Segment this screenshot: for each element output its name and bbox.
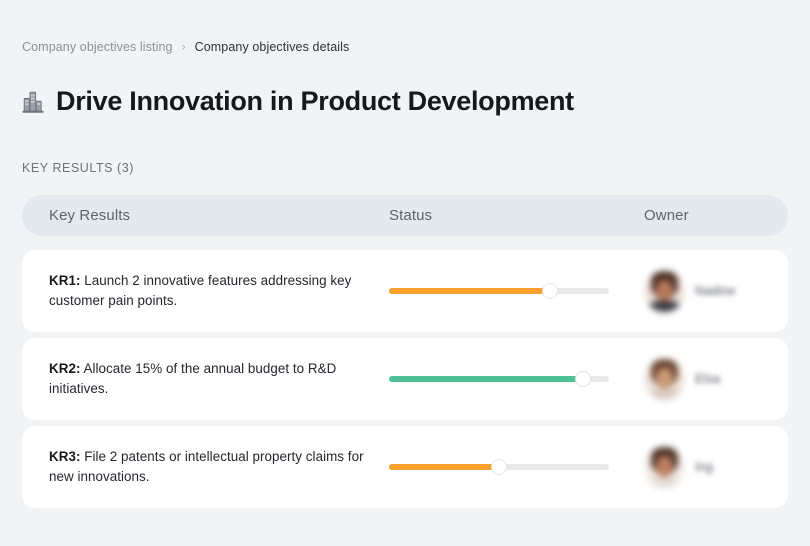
building-icon — [21, 89, 45, 115]
breadcrumb: Company objectives listing › Company obj… — [22, 38, 349, 56]
owner[interactable]: Elsa — [644, 359, 788, 400]
chevron-right-icon: › — [182, 38, 186, 56]
breadcrumb-link-listing[interactable]: Company objectives listing — [22, 38, 173, 56]
progress-bar[interactable] — [389, 284, 609, 298]
cell-owner: Nadine — [644, 271, 788, 312]
key-result-text: KR2: Allocate 15% of the annual budget t… — [49, 359, 379, 399]
objective-details-page: Company objectives listing › Company obj… — [0, 0, 810, 546]
owner-name: Nadine — [695, 284, 736, 298]
table-row[interactable]: KR2: Allocate 15% of the annual budget t… — [22, 338, 788, 420]
cell-key-result: KR3: File 2 patents or intellectual prop… — [22, 447, 389, 487]
owner-name: Ing — [695, 460, 713, 474]
cell-status — [389, 284, 644, 298]
table-row[interactable]: KR3: File 2 patents or intellectual prop… — [22, 426, 788, 508]
page-title: Drive Innovation in Product Development — [56, 84, 574, 118]
progress-bar[interactable] — [389, 460, 609, 474]
table-header-row: Key Results Status Owner — [22, 195, 788, 236]
key-result-prefix: KR2: — [49, 361, 80, 376]
avatar — [644, 359, 685, 400]
progress-bar[interactable] — [389, 372, 609, 386]
table-body: KR1: Launch 2 innovative features addres… — [22, 250, 788, 508]
column-header-status: Status — [389, 207, 644, 224]
owner[interactable]: Nadine — [644, 271, 788, 312]
key-result-text: KR3: File 2 patents or intellectual prop… — [49, 447, 379, 487]
avatar — [644, 447, 685, 488]
key-result-text: KR1: Launch 2 innovative features addres… — [49, 271, 379, 311]
owner[interactable]: Ing — [644, 447, 788, 488]
key-result-description: Allocate 15% of the annual budget to R&D… — [49, 361, 336, 396]
cell-owner: Elsa — [644, 359, 788, 400]
key-result-prefix: KR3: — [49, 449, 80, 464]
column-header-owner: Owner — [644, 207, 788, 224]
key-result-description: Launch 2 innovative features addressing … — [49, 273, 351, 308]
breadcrumb-current-details: Company objectives details — [195, 38, 350, 56]
progress-handle[interactable] — [576, 372, 590, 386]
progress-fill — [389, 376, 583, 382]
column-header-key-results: Key Results — [22, 207, 389, 224]
key-results-table: Key Results Status Owner KR1: Launch 2 i… — [22, 195, 788, 508]
progress-handle[interactable] — [492, 460, 506, 474]
key-result-prefix: KR1: — [49, 273, 80, 288]
owner-name: Elsa — [695, 372, 720, 386]
key-result-description: File 2 patents or intellectual property … — [49, 449, 364, 484]
cell-key-result: KR2: Allocate 15% of the annual budget t… — [22, 359, 389, 399]
progress-fill — [389, 288, 550, 294]
avatar — [644, 271, 685, 312]
table-row[interactable]: KR1: Launch 2 innovative features addres… — [22, 250, 788, 332]
cell-owner: Ing — [644, 447, 788, 488]
page-title-row: Drive Innovation in Product Development — [21, 66, 574, 136]
cell-status — [389, 460, 644, 474]
progress-handle[interactable] — [543, 284, 557, 298]
key-results-section-label: KEY RESULTS (3) — [22, 161, 134, 175]
cell-key-result: KR1: Launch 2 innovative features addres… — [22, 271, 389, 311]
progress-fill — [389, 464, 499, 470]
cell-status — [389, 372, 644, 386]
